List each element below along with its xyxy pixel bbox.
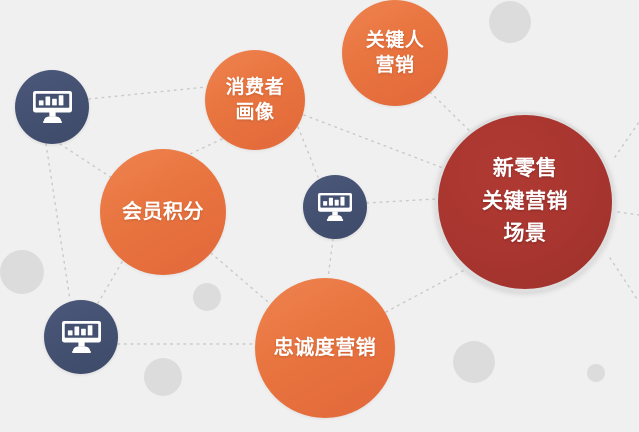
decorative-circle [193, 283, 221, 311]
diagram-canvas: 消费者 画像关键人 营销会员积分忠诚度营销新零售 关键营销 场景 [0, 0, 639, 432]
connector-line [615, 122, 639, 157]
connector-line [298, 127, 318, 177]
topic-node-key-person-marketing[interactable]: 关键人 营销 [342, 0, 448, 106]
topic-node-label: 消费者 画像 [226, 75, 285, 125]
connector-line [89, 87, 206, 99]
connector-line [190, 139, 222, 154]
connector-line [46, 144, 70, 300]
icon-node-icon-bottom-left[interactable] [44, 300, 118, 374]
topic-node-consumer-profile[interactable]: 消费者 画像 [205, 50, 305, 150]
connector-line [610, 258, 639, 302]
icon-node-icon-center[interactable] [303, 175, 367, 239]
connector-line [98, 262, 122, 303]
topic-node-label: 关键人 营销 [366, 28, 425, 78]
monitor-bar-chart-icon [318, 193, 352, 222]
connector-line [60, 144, 112, 178]
monitor-bar-chart-icon [62, 321, 101, 354]
connector-line [618, 212, 639, 215]
connector-line [367, 199, 435, 203]
decorative-circle [453, 341, 495, 383]
topic-node-label: 忠诚度营销 [274, 335, 377, 361]
topic-node-loyalty-marketing[interactable]: 忠诚度营销 [255, 278, 395, 418]
topic-node-member-points[interactable]: 会员积分 [100, 149, 226, 275]
decorative-circle [489, 1, 531, 43]
center-node-label: 新零售 关键营销 场景 [482, 153, 568, 251]
connector-line [386, 266, 472, 312]
connector-line [328, 239, 333, 278]
decorative-circle [587, 364, 605, 382]
decorative-circle [0, 250, 44, 294]
center-node-new-retail[interactable]: 新零售 关键营销 场景 [435, 112, 615, 292]
monitor-bar-chart-icon [33, 91, 72, 124]
connector-line [304, 115, 443, 168]
topic-node-label: 会员积分 [122, 199, 204, 225]
icon-node-icon-top-left[interactable] [15, 70, 89, 144]
decorative-circle [144, 358, 182, 396]
